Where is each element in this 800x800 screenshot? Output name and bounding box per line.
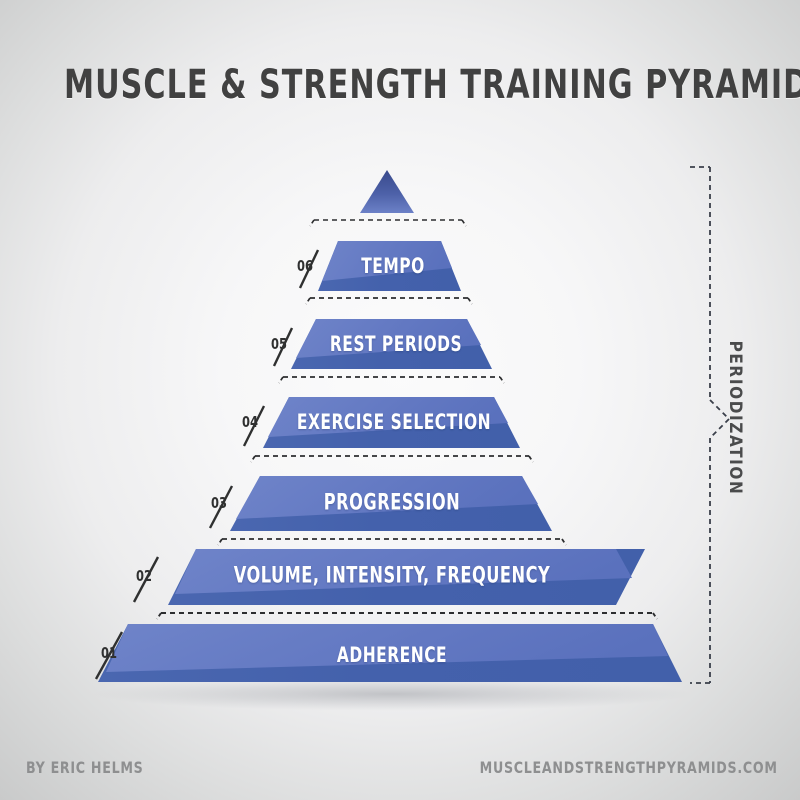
tier-number-02: 02 xyxy=(136,567,152,585)
pyramid-tier-04[interactable] xyxy=(263,397,520,448)
pyramid-diagram xyxy=(0,0,800,800)
pyramid-shadow xyxy=(92,677,692,711)
pyramid-tier-02[interactable] xyxy=(168,549,645,605)
pyramid-apex xyxy=(360,170,414,213)
tier-number-06: 06 xyxy=(297,257,313,275)
pyramid-tier-05[interactable] xyxy=(291,319,492,369)
footer-author: By Eric Helms xyxy=(26,758,144,777)
footer-website[interactable]: muscleandstrengthpyramids.com xyxy=(480,758,778,777)
pyramid-tier-01[interactable] xyxy=(98,624,682,682)
pyramid-tier-03[interactable] xyxy=(230,476,552,531)
tier-number-03: 03 xyxy=(211,494,227,512)
tier-number-04: 04 xyxy=(242,413,258,431)
infographic-canvas: Muscle & Strength Training Pyramid xyxy=(0,0,800,800)
pyramid-tier-06[interactable] xyxy=(318,241,461,291)
tier-number-01: 01 xyxy=(101,644,117,662)
periodization-label: Periodization xyxy=(725,341,745,496)
tier-number-05: 05 xyxy=(271,335,287,353)
